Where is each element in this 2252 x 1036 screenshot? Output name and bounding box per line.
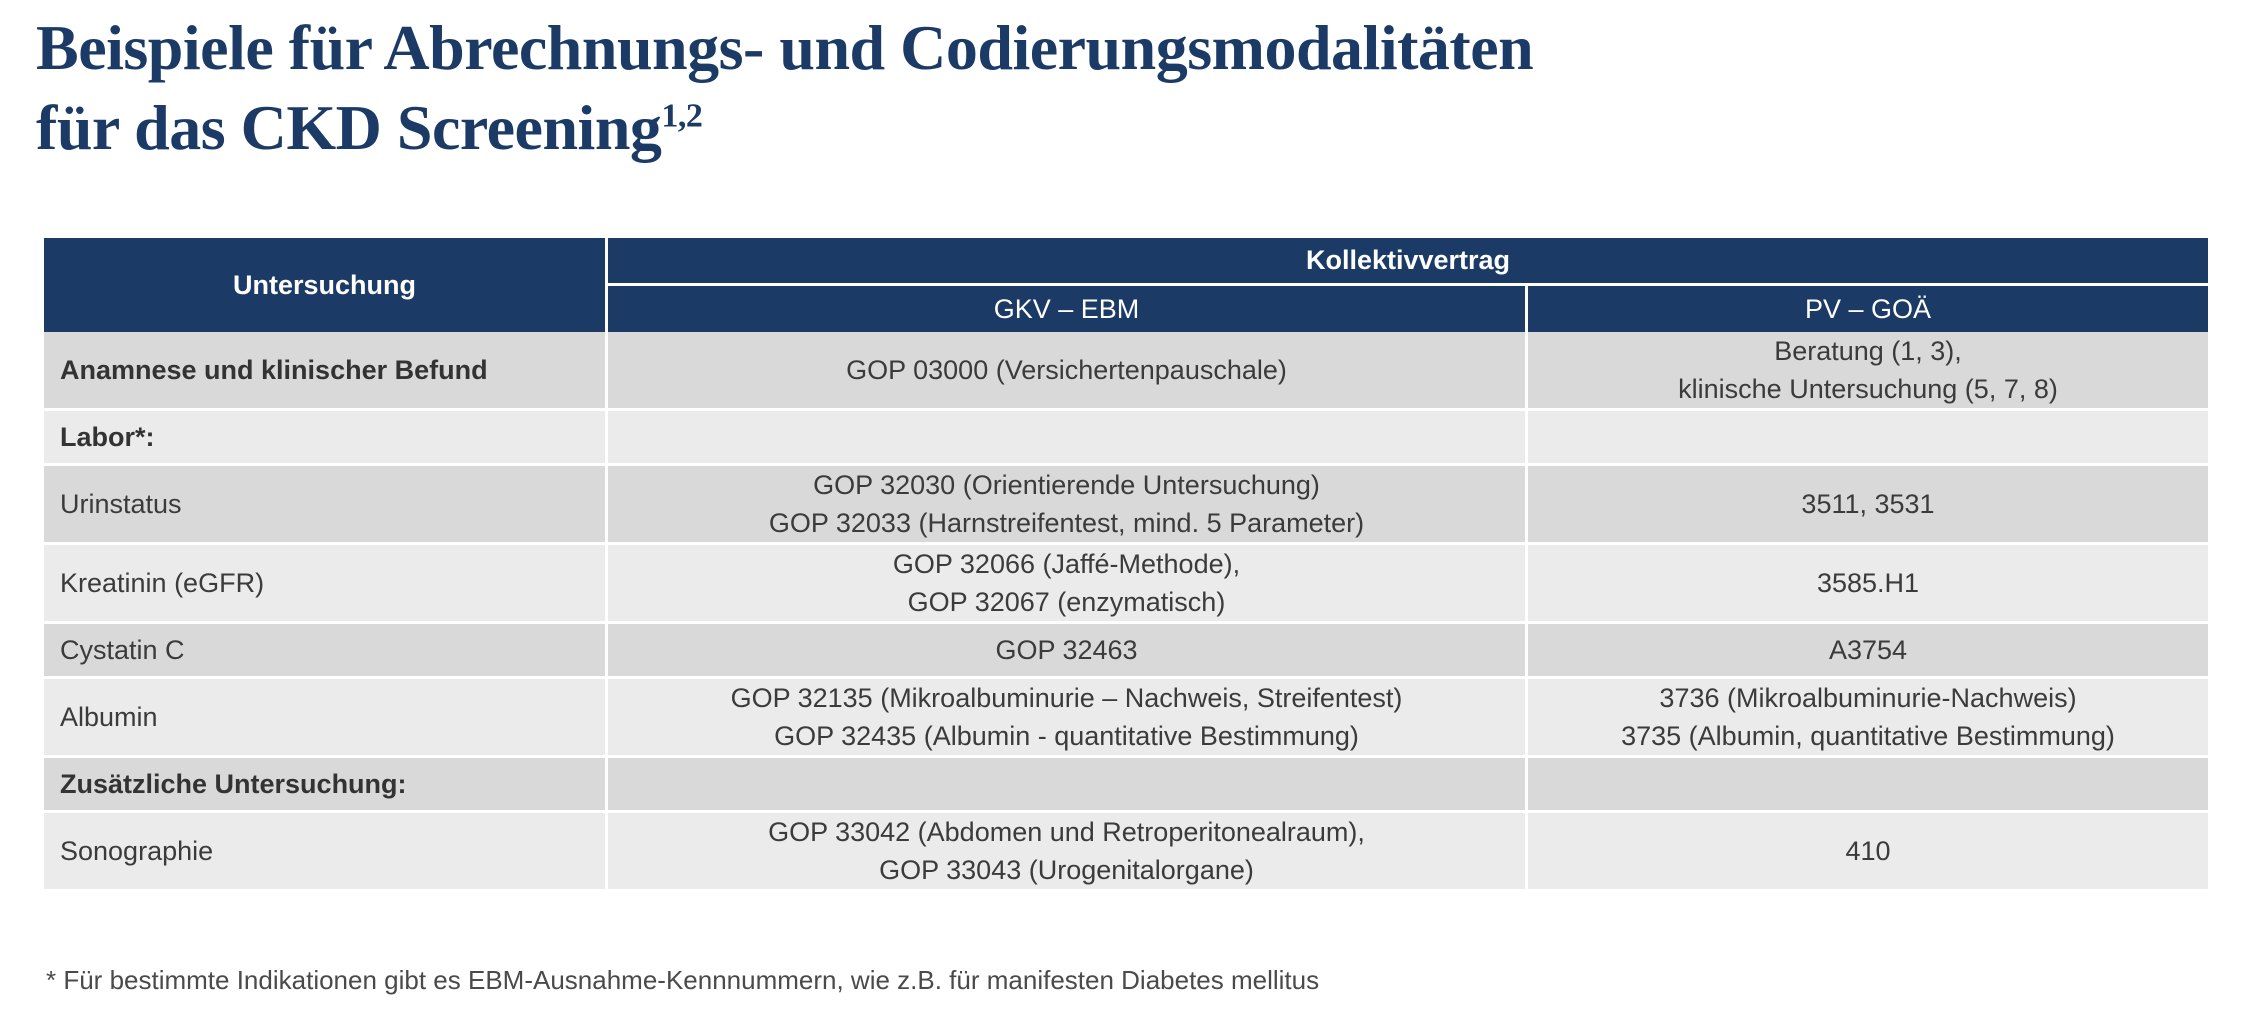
column-header-pv-goae: PV – GOÄ — [1528, 286, 2208, 332]
title-line-1: Beispiele für Abrechnungs- und Codierung… — [36, 8, 2216, 88]
cell-gkv-ebm — [608, 758, 1528, 813]
table-row: Albumin GOP 32135 (Mikroalbuminurie – Na… — [44, 679, 2208, 758]
cell-gkv-ebm-line-2: GOP 33043 (Urogenitalorgane) — [622, 851, 1511, 889]
cell-untersuchung: Kreatinin (eGFR) — [44, 545, 608, 624]
title-line-1-text: Beispiele für Abrechnungs- und Codierung… — [36, 12, 1533, 83]
billing-codes-table: Untersuchung Kollektivvertrag GKV – EBM … — [44, 238, 2208, 892]
cell-gkv-ebm-line-2: GOP 32033 (Harnstreifentest, mind. 5 Par… — [622, 504, 1511, 542]
column-header-gkv-ebm: GKV – EBM — [608, 286, 1528, 332]
table-row: Cystatin C GOP 32463 A3754 — [44, 624, 2208, 679]
cell-untersuchung: Anamnese und klinischer Befund — [44, 332, 608, 411]
cell-gkv-ebm: GOP 03000 (Versichertenpauschale) — [608, 332, 1528, 411]
cell-pv-goae: A3754 — [1528, 624, 2208, 679]
billing-codes-table-wrapper: Untersuchung Kollektivvertrag GKV – EBM … — [44, 238, 2208, 892]
cell-untersuchung: Urinstatus — [44, 466, 608, 545]
cell-gkv-ebm-line-1: GOP 32135 (Mikroalbuminurie – Nachweis, … — [622, 679, 1511, 717]
cell-gkv-ebm-line-2: GOP 32435 (Albumin - quantitative Bestim… — [622, 717, 1511, 755]
cell-pv-goae-line-1: Beratung (1, 3), — [1542, 332, 2194, 370]
cell-pv-goae — [1528, 411, 2208, 466]
cell-gkv-ebm: GOP 32135 (Mikroalbuminurie – Nachweis, … — [608, 679, 1528, 758]
cell-gkv-ebm-line-1: GOP 33042 (Abdomen und Retroperitonealra… — [622, 813, 1511, 851]
table-row: Urinstatus GOP 32030 (Orientierende Unte… — [44, 466, 2208, 545]
table-row: Labor*: — [44, 411, 2208, 466]
page-title: Beispiele für Abrechnungs- und Codierung… — [36, 8, 2216, 168]
cell-untersuchung: Labor*: — [44, 411, 608, 466]
cell-pv-goae: 3585.H1 — [1528, 545, 2208, 624]
cell-untersuchung: Cystatin C — [44, 624, 608, 679]
cell-gkv-ebm: GOP 32463 — [608, 624, 1528, 679]
table-row: Zusätzliche Untersuchung: — [44, 758, 2208, 813]
cell-pv-goae-line-2: klinische Untersuchung (5, 7, 8) — [1542, 370, 2194, 408]
cell-pv-goae: 3736 (Mikroalbuminurie-Nachweis) 3735 (A… — [1528, 679, 2208, 758]
table-head: Untersuchung Kollektivvertrag GKV – EBM … — [44, 238, 2208, 332]
column-group-header-kollektivvertrag: Kollektivvertrag — [608, 238, 2208, 286]
table-row: Kreatinin (eGFR) GOP 32066 (Jaffé-Method… — [44, 545, 2208, 624]
table-header-row-top: Untersuchung Kollektivvertrag — [44, 238, 2208, 286]
table-row: Anamnese und klinischer Befund GOP 03000… — [44, 332, 2208, 411]
title-line-2-text: für das CKD Screening — [36, 92, 661, 163]
cell-gkv-ebm-line-1: GOP 32030 (Orientierende Untersuchung) — [622, 466, 1511, 504]
cell-gkv-ebm: GOP 33042 (Abdomen und Retroperitonealra… — [608, 813, 1528, 892]
cell-untersuchung: Albumin — [44, 679, 608, 758]
cell-untersuchung: Sonographie — [44, 813, 608, 892]
cell-pv-goae — [1528, 758, 2208, 813]
cell-pv-goae-line-1: 3736 (Mikroalbuminurie-Nachweis) — [1542, 679, 2194, 717]
cell-gkv-ebm: GOP 32066 (Jaffé-Methode), GOP 32067 (en… — [608, 545, 1528, 624]
table-body: Anamnese und klinischer Befund GOP 03000… — [44, 332, 2208, 892]
title-superscript: 1,2 — [661, 98, 702, 135]
cell-gkv-ebm-line-1: GOP 32066 (Jaffé-Methode), — [622, 545, 1511, 583]
cell-gkv-ebm — [608, 411, 1528, 466]
cell-pv-goae: 3511, 3531 — [1528, 466, 2208, 545]
cell-pv-goae-line-2: 3735 (Albumin, quantitative Bestimmung) — [1542, 717, 2194, 755]
title-line-2: für das CKD Screening1,2 — [36, 88, 2216, 168]
column-header-untersuchung: Untersuchung — [44, 238, 608, 332]
footnote-text: * Für bestimmte Indikationen gibt es EBM… — [46, 965, 1319, 996]
table-row: Sonographie GOP 33042 (Abdomen und Retro… — [44, 813, 2208, 892]
cell-gkv-ebm-line-2: GOP 32067 (enzymatisch) — [622, 583, 1511, 621]
slide-root: Beispiele für Abrechnungs- und Codierung… — [0, 0, 2252, 1036]
cell-gkv-ebm: GOP 32030 (Orientierende Untersuchung) G… — [608, 466, 1528, 545]
cell-pv-goae: Beratung (1, 3), klinische Untersuchung … — [1528, 332, 2208, 411]
cell-pv-goae: 410 — [1528, 813, 2208, 892]
cell-untersuchung: Zusätzliche Untersuchung: — [44, 758, 608, 813]
